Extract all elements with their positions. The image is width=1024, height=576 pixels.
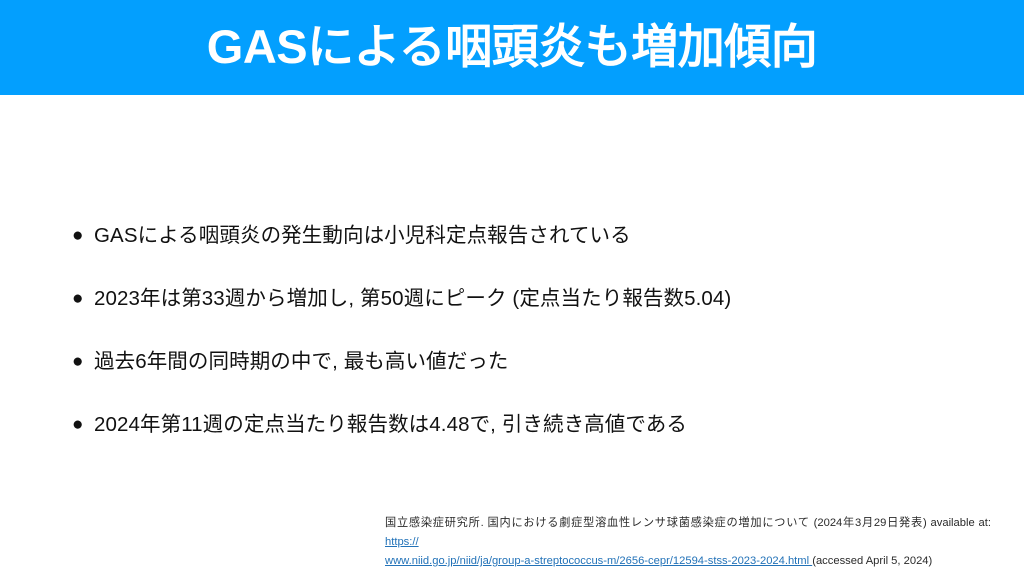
bullet-dot-icon: ● <box>68 410 94 439</box>
title-banner: GASによる咽頭炎も増加傾向 <box>0 0 1024 95</box>
list-item: ● 過去6年間の同時期の中で, 最も高い値だった <box>68 347 968 410</box>
footnote-line-1: 国立感染症研究所. 国内における劇症型溶血性レンサ球菌感染症の増加について (2… <box>385 514 991 552</box>
footnote-url-link-part1[interactable]: https:// <box>385 536 419 548</box>
list-item-label: 2023年は第33週から増加し, 第50週にピーク (定点当たり報告数5.04) <box>94 284 731 313</box>
list-item: ● GASによる咽頭炎の発生動向は小児科定点報告されている <box>68 221 968 284</box>
bullet-dot-icon: ● <box>68 347 94 376</box>
list-item-label: 過去6年間の同時期の中で, 最も高い値だった <box>94 347 509 376</box>
list-item-label: GASによる咽頭炎の発生動向は小児科定点報告されている <box>94 221 631 250</box>
list-item: ● 2024年第11週の定点当たり報告数は4.48で, 引き続き高値である <box>68 410 968 473</box>
footnote-source-text: 国立感染症研究所. 国内における劇症型溶血性レンサ球菌感染症の増加について (2… <box>385 517 991 529</box>
page-title: GASによる咽頭炎も増加傾向 <box>207 23 817 70</box>
list-item-label: 2024年第11週の定点当たり報告数は4.48で, 引き続き高値である <box>94 410 687 439</box>
bullet-list: ● GASによる咽頭炎の発生動向は小児科定点報告されている ● 2023年は第3… <box>68 221 968 473</box>
footnote-url-link-part2[interactable]: www.niid.go.jp/niid/ja/group-a-streptoco… <box>385 555 812 567</box>
footnote-accessed-text: (accessed April 5, 2024) <box>812 555 932 567</box>
footnote-citation: 国立感染症研究所. 国内における劇症型溶血性レンサ球菌感染症の増加について (2… <box>385 514 991 571</box>
footnote-line-2: www.niid.go.jp/niid/ja/group-a-streptoco… <box>385 552 991 571</box>
bullet-dot-icon: ● <box>68 221 94 250</box>
bullet-dot-icon: ● <box>68 284 94 313</box>
list-item: ● 2023年は第33週から増加し, 第50週にピーク (定点当たり報告数5.0… <box>68 284 968 347</box>
